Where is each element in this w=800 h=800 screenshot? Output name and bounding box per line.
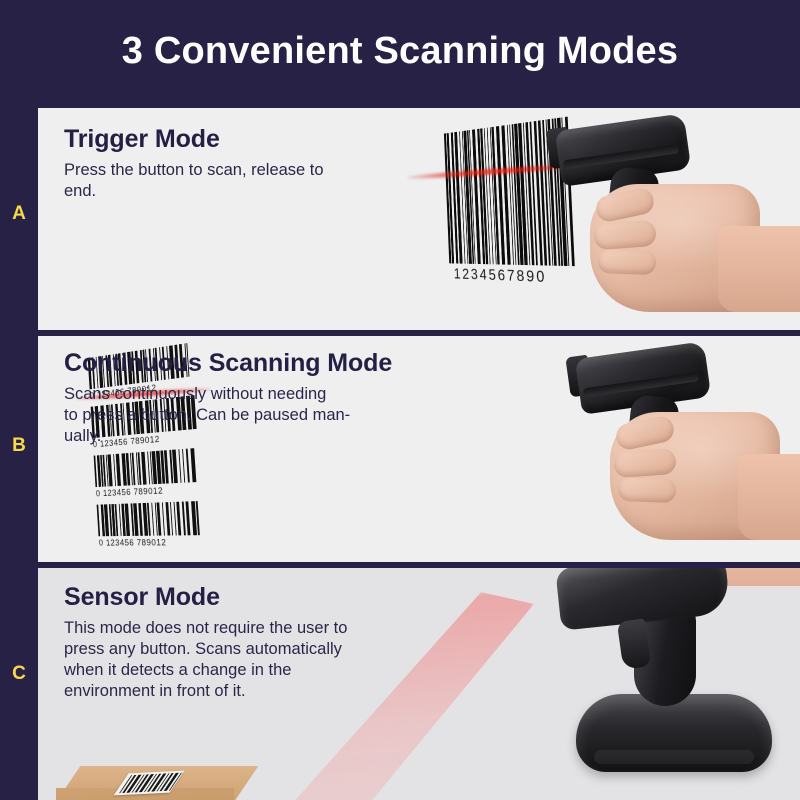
section-body: Press the button to scan, release to end… <box>64 160 324 202</box>
finger <box>598 249 657 275</box>
cardboard-box-graphic <box>56 766 234 800</box>
finger <box>594 186 656 223</box>
finger <box>593 220 657 250</box>
box-top-face <box>56 766 258 800</box>
left-index-gutter: A B C <box>0 0 38 800</box>
scanner-nose <box>545 127 572 170</box>
page-title: 3 Convenient Scanning Modes <box>122 32 678 76</box>
section-letter-c: C <box>0 663 38 685</box>
scanner-head <box>555 568 731 631</box>
section-heading: Trigger Mode <box>64 126 324 152</box>
scanner-trigger <box>617 618 651 669</box>
section-text-sensor-mode: Sensor Mode This mode does not require t… <box>64 584 347 702</box>
section-body: This mode does not require the user to p… <box>64 618 347 702</box>
header-banner: 3 Convenient Scanning Modes <box>0 0 800 108</box>
scanner-head <box>555 113 692 187</box>
box-front-face <box>56 788 234 800</box>
wrist-graphic <box>718 226 800 312</box>
barcode-digits: 1234567890 <box>454 265 578 292</box>
scanner-stand-neck <box>634 604 696 706</box>
barcode-digits: 0 123456 789012 <box>99 537 203 550</box>
scanner-head <box>575 341 712 415</box>
barcode-graphic: 1234567890 <box>444 116 577 266</box>
scanner-stand-base <box>576 694 772 772</box>
finger <box>618 477 677 503</box>
section-panel-trigger-mode: 1234567890 Trigger Mode Press the b <box>38 108 800 330</box>
barcode-digits: 0 123456 789012 <box>96 484 200 501</box>
barcode-row: 0 123456 789012 <box>94 448 200 500</box>
barcode-bars <box>444 116 577 266</box>
section-letter-a: A <box>0 203 38 225</box>
finger <box>614 414 676 451</box>
scanner-grip <box>600 166 660 290</box>
scanner-nose <box>565 355 592 398</box>
section-panel-sensor-mode: Sensor Mode This mode does not require t… <box>38 568 800 800</box>
wrist-graphic <box>738 454 800 540</box>
section-heading: Continuous Scanning Mode <box>64 350 392 376</box>
section-heading: Sensor Mode <box>64 584 347 610</box>
hand-graphic <box>590 184 760 312</box>
scanner-grip <box>620 394 680 518</box>
barcode-bars <box>97 501 202 536</box>
section-panel-continuous-scanning-mode: 0 123456 7890120 123456 7890120 123456 7… <box>38 336 800 562</box>
barcode-row: 0 123456 789012 <box>97 501 203 549</box>
finger <box>613 448 677 478</box>
hand-graphic <box>674 568 800 586</box>
section-text-continuous-mode: Continuous Scanning Mode Scans continuou… <box>64 350 392 447</box>
infographic-canvas: 3 Convenient Scanning Modes A B C 123456… <box>0 0 800 800</box>
hand-graphic <box>610 412 780 540</box>
laser-line-icon <box>408 162 583 181</box>
section-body: Scans continuously without needing to pr… <box>64 384 392 447</box>
section-letter-b: B <box>0 435 38 457</box>
section-text-trigger-mode: Trigger Mode Press the button to scan, r… <box>64 126 324 202</box>
box-barcode-label <box>114 771 185 796</box>
barcode-bars <box>94 448 199 487</box>
